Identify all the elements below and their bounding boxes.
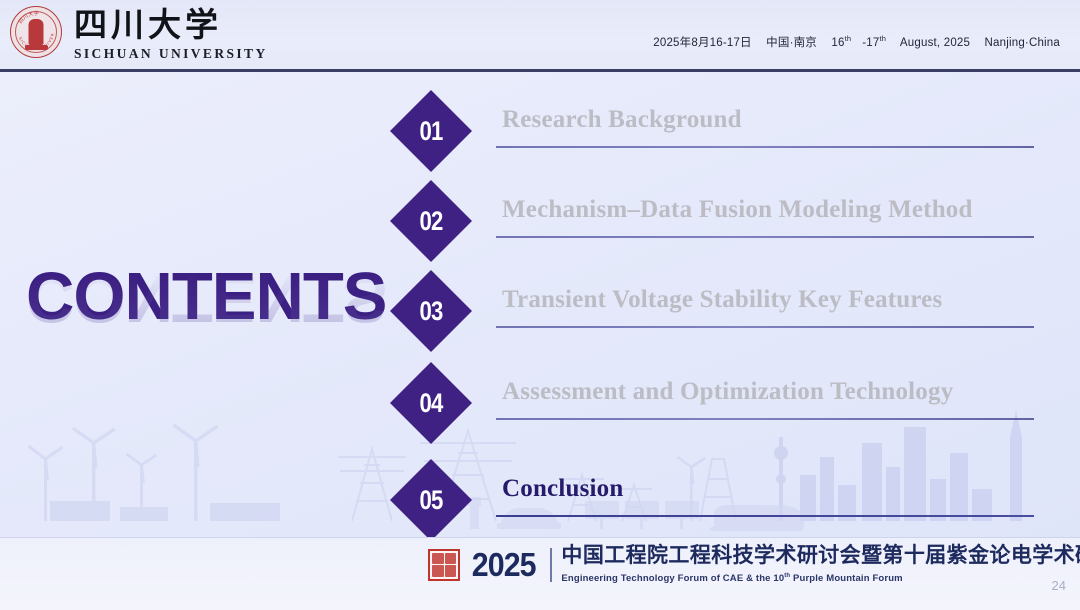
page-title-reflection: CONTENTS xyxy=(26,263,406,333)
item-label: Mechanism–Data Fusion Modeling Method xyxy=(502,196,1042,224)
university-branding: 四川大学 SICHUAN UNIVERSITY 四川大学 SICHUAN UNI… xyxy=(10,6,268,62)
event-date-cn: 2025年8月16-17日 xyxy=(653,37,752,49)
contents-list: 01 Research Background 02 Mechanism–Data… xyxy=(396,72,1080,537)
seal-glyph xyxy=(432,553,444,565)
page-number: 24 xyxy=(1052,578,1066,593)
list-item-01[interactable]: 01 Research Background xyxy=(396,94,1080,186)
conference-title-en: Engineering Technology Forum of CAE & th… xyxy=(561,570,1080,585)
conference-year: 2025 xyxy=(472,546,536,584)
list-item-02[interactable]: 02 Mechanism–Data Fusion Modeling Method xyxy=(396,184,1080,276)
conference-title-block: 中国工程院工程科技学术研讨会暨第十届紫金论电学术研讨会 Engineering … xyxy=(561,544,1080,585)
item-number: 02 xyxy=(407,192,455,250)
svg-text:四川大学: 四川大学 xyxy=(17,9,39,25)
seal-glyph xyxy=(445,565,457,577)
contents-title-block: CONTENTS CONTENTS xyxy=(26,262,406,412)
footer-divider xyxy=(550,548,552,582)
conference-title-cn: 中国工程院工程科技学术研讨会暨第十届紫金论电学术研讨会 xyxy=(561,544,1080,568)
item-underline xyxy=(496,418,1034,420)
item-underline xyxy=(496,326,1034,328)
event-location-en: Nanjing·China xyxy=(985,37,1060,49)
seal-glyph xyxy=(432,565,444,577)
item-number: 03 xyxy=(407,282,455,340)
item-label: Transient Voltage Stability Key Features xyxy=(502,286,1042,314)
conference-branding: 2025 中国工程院工程科技学术研讨会暨第十届紫金论电学术研讨会 Enginee… xyxy=(428,544,1080,585)
item-number: 05 xyxy=(407,471,455,529)
event-date-en: 16th-17th August, 2025 xyxy=(831,37,970,49)
item-underline xyxy=(496,515,1034,517)
item-label: Assessment and Optimization Technology xyxy=(502,378,1042,406)
item-number: 04 xyxy=(407,374,455,432)
slide-footer: 2025 中国工程院工程科技学术研讨会暨第十届紫金论电学术研讨会 Enginee… xyxy=(0,537,1080,610)
slide-header: 四川大学 SICHUAN UNIVERSITY 四川大学 SICHUAN UNI… xyxy=(0,0,1080,72)
sichuan-university-seal-icon: 四川大学 SICHUAN UNIVERSITY xyxy=(10,6,62,58)
list-item-04[interactable]: 04 Assessment and Optimization Technolog… xyxy=(396,366,1080,458)
cae-red-seal-icon xyxy=(428,549,460,581)
item-label: Research Background xyxy=(502,106,1042,134)
item-label: Conclusion xyxy=(502,475,1042,503)
seal-glyph xyxy=(445,553,457,565)
item-underline xyxy=(496,236,1034,238)
item-underline xyxy=(496,146,1034,148)
event-date-location: 2025年8月16-17日 中国·南京 16th-17th August, 20… xyxy=(653,34,1060,50)
university-name-cn: 四川大学 xyxy=(74,8,268,44)
slide-contents: 四川大学 SICHUAN UNIVERSITY 四川大学 SICHUAN UNI… xyxy=(0,0,1080,610)
seal-ring-text-icon: 四川大学 SICHUAN UNIVERSITY xyxy=(11,7,61,57)
event-location-cn: 中国·南京 xyxy=(766,37,817,49)
item-number: 01 xyxy=(407,102,455,160)
university-name-en: SICHUAN UNIVERSITY xyxy=(74,46,268,62)
university-name-block: 四川大学 SICHUAN UNIVERSITY xyxy=(74,8,268,62)
list-item-03[interactable]: 03 Transient Voltage Stability Key Featu… xyxy=(396,274,1080,366)
